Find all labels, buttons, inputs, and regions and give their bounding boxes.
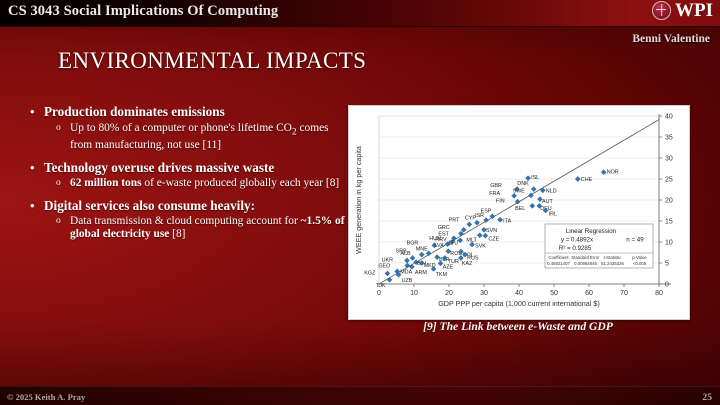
data-point [419, 252, 424, 257]
slide-footer [0, 386, 720, 405]
bullet-level2: o62 million tons of e-waste produced glo… [56, 177, 348, 190]
data-point-label: MNE [416, 246, 428, 252]
chart-text: 5 [665, 260, 669, 267]
chart-panel: TJKKGZMDAUZBGEOARMUKRALBBIHMKDTKMAZESRBM… [348, 105, 690, 320]
data-point [477, 233, 482, 238]
data-point [461, 227, 466, 232]
data-point-label: KAZ [462, 261, 473, 267]
bullet-level1-text: Technology overuse drives massive waste [44, 160, 348, 176]
data-point-label: ARM [415, 270, 427, 276]
data-point-label: LVA [434, 243, 444, 249]
data-point-label: KGZ [364, 271, 376, 277]
chart-text: 0.00954846 [574, 261, 597, 266]
slide-header: CS 3043 Social Implications Of Computing… [0, 0, 720, 27]
data-point-label: UZB [402, 278, 413, 284]
bullet-circle-icon: o [56, 122, 64, 135]
data-point [404, 258, 409, 263]
data-point-label: SVN [486, 228, 497, 234]
data-point-label: PRT [449, 217, 460, 223]
data-point-label: ITA [503, 219, 511, 225]
data-point [458, 231, 463, 236]
chart-text: 40 [665, 113, 673, 120]
bullet-dot-icon: • [30, 198, 37, 213]
data-point [530, 203, 535, 208]
bullet-dot-icon: • [30, 160, 37, 175]
data-point-label: SWE [513, 188, 526, 194]
chart-text: p-Value [632, 255, 647, 260]
bullet-group: •Digital services also consume heavily:o… [30, 198, 348, 242]
data-point-label: FRA [489, 191, 500, 197]
data-point-label: IRL [549, 212, 557, 218]
chart-text: 30 [665, 155, 673, 162]
chart-text: 25 [665, 176, 673, 183]
slide-canvas: CS 3043 Social Implications Of Computing… [0, 0, 720, 405]
course-title: CS 3043 Social Implications Of Computing [8, 3, 278, 20]
wpi-wordmark: WPI [675, 1, 713, 20]
data-point-label: AZE [443, 264, 454, 270]
data-point [387, 277, 392, 282]
data-point [483, 233, 488, 238]
chart-text: Linear Regression [566, 228, 617, 235]
data-point [575, 176, 580, 181]
chart-text: 80 [655, 290, 663, 297]
data-point-label: CHE [581, 177, 593, 183]
chart-caption: [9] The Link between e-Waste and GDP [348, 320, 688, 333]
data-point-label: DNK [517, 181, 529, 187]
chart-text: GDP PPP per capita (1,000 current intern… [438, 299, 600, 308]
chart-text: WEEE generation in kg per capita [354, 146, 363, 254]
data-point-label: CZE [488, 237, 499, 243]
data-point [601, 170, 606, 175]
data-point-label: ISL [531, 175, 539, 181]
data-point-label: NLD [546, 188, 557, 194]
data-point-label: ESP [481, 208, 492, 214]
presenter-name: Benni Valentine [632, 33, 710, 45]
chart-text: 51.2435326 [601, 261, 624, 266]
bullet-level2-text: Data transmission & cloud computing acco… [70, 215, 348, 242]
data-point [405, 263, 410, 268]
data-point-label: BGR [407, 240, 419, 246]
chart-text: 35 [665, 134, 673, 141]
data-point-label: UKR [382, 257, 393, 263]
data-point-label: MLT [466, 237, 477, 243]
bullet-level1: •Digital services also consume heavily: [30, 198, 348, 214]
data-point [467, 222, 472, 227]
chart-text: 15 [665, 218, 673, 225]
data-point [385, 271, 390, 276]
bullet-list: •Production dominates emissionsoUp to 80… [30, 104, 348, 249]
page-number: 25 [702, 392, 712, 403]
data-point-label: SRB [396, 249, 407, 255]
data-point-label: NOR [607, 169, 619, 175]
chart-text: 40 [515, 290, 523, 297]
data-point [498, 217, 503, 222]
data-point-label: MDA [400, 269, 412, 275]
chart-text: n = 49 [626, 237, 644, 244]
bullet-level1: •Technology overuse drives massive waste [30, 160, 348, 176]
chart-text: 50 [550, 290, 558, 297]
data-point-label: TUR [448, 259, 459, 265]
chart-text: 60 [585, 290, 593, 297]
chart-text: 10 [665, 239, 673, 246]
page-title: ENVIRONMENTAL IMPACTS [58, 48, 366, 74]
bullet-level1-text: Production dominates emissions [44, 104, 348, 120]
bullet-level1-text: Digital services also consume heavily: [44, 198, 348, 214]
bullet-level2: oUp to 80% of a computer or phone's life… [56, 122, 348, 153]
data-point-label: LTU [448, 240, 458, 246]
chart-text: 0.48921407 [547, 261, 570, 266]
bullet-circle-icon: o [56, 177, 64, 190]
chart-text: 30 [480, 290, 488, 297]
chart-text: t-Statistic [604, 255, 623, 260]
data-point [526, 176, 531, 181]
chart-text: 20 [665, 197, 673, 204]
bullet-level2: oData transmission & cloud computing acc… [56, 215, 348, 242]
bullet-circle-icon: o [56, 215, 64, 228]
bullet-level2-text: 62 million tons of e-waste produced glob… [70, 177, 348, 190]
bullet-group: •Technology overuse drives massive waste… [30, 160, 348, 191]
chart-text: 0 [665, 281, 669, 288]
data-point [531, 186, 536, 191]
chart-text: 10 [410, 290, 418, 297]
chart-text: 0 [377, 290, 381, 297]
data-point-label: EST [438, 232, 449, 238]
data-point [410, 255, 415, 260]
wpi-brand: WPI [652, 1, 713, 20]
chart-text: 20 [445, 290, 453, 297]
data-point-label: AUT [542, 199, 553, 205]
chart-text: y = 0.4892x [561, 237, 594, 244]
data-point-label: FIN [496, 199, 505, 205]
bullet-dot-icon: • [30, 104, 37, 119]
data-point-label: BEL [515, 206, 525, 212]
regression-box: Linear Regressiony = 0.4892xR² = 0.9285n… [545, 224, 653, 268]
chart-text: R² = 0.9285 [559, 245, 592, 252]
data-point-label: GEO [378, 264, 390, 270]
bullet-level1: •Production dominates emissions [30, 104, 348, 120]
copyright-text: © 2025 Keith A. Pray [7, 392, 85, 402]
chart-text: 70 [620, 290, 628, 297]
data-point-label: SVK [475, 244, 486, 250]
data-point-label: TKM [436, 272, 448, 278]
wpi-seal-icon [652, 1, 671, 20]
chart-text: Coefficient [548, 255, 569, 260]
data-point-label: GRC [438, 225, 450, 231]
chart-text: <0.005 [633, 261, 647, 266]
scatter-chart: TJKKGZMDAUZBGEOARMUKRALBBIHMKDTKMAZESRBM… [349, 106, 689, 319]
chart-text: Standard Error [571, 255, 600, 260]
bullet-level2-text: Up to 80% of a computer or phone's lifet… [70, 122, 348, 153]
bullet-group: •Production dominates emissionsoUp to 80… [30, 104, 348, 153]
data-point-label: GBR [490, 183, 502, 189]
